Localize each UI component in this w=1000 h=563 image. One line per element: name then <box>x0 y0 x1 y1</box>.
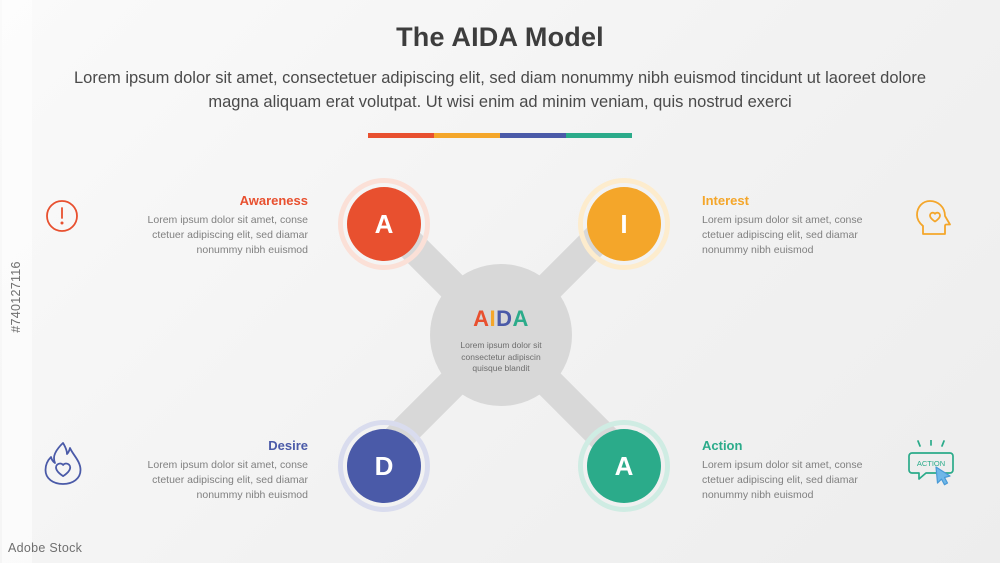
rule-segment-4 <box>566 133 632 138</box>
node-action-letter: A <box>587 429 661 503</box>
block-action: Action Lorem ipsum dolor sit amet, conse… <box>702 438 888 503</box>
block-desire: Desire Lorem ipsum dolor sit amet, conse… <box>122 438 308 503</box>
color-rule <box>368 133 632 138</box>
node-interest-letter: I <box>587 187 661 261</box>
node-desire[interactable]: D <box>338 420 430 512</box>
node-awareness-letter: A <box>347 187 421 261</box>
page-subtitle: Lorem ipsum dolor sit amet, consectetuer… <box>60 66 940 114</box>
block-interest: Interest Lorem ipsum dolor sit amet, con… <box>702 193 888 258</box>
block-desire-title: Desire <box>122 438 308 453</box>
watermark-vertical: #740127116 <box>9 207 23 387</box>
rule-segment-2 <box>434 133 500 138</box>
flame-heart-icon <box>42 440 84 491</box>
block-awareness-text: Lorem ipsum dolor sit amet, conse ctetue… <box>122 213 308 258</box>
center-acronym: AIDA <box>430 306 572 332</box>
center-description: Lorem ipsum dolor sit consectetur adipis… <box>446 340 556 375</box>
block-action-text: Lorem ipsum dolor sit amet, conse ctetue… <box>702 458 888 503</box>
block-awareness: Awareness Lorem ipsum dolor sit amet, co… <box>122 193 308 258</box>
block-awareness-title: Awareness <box>122 193 308 208</box>
alert-circle-icon <box>42 196 82 241</box>
action-click-icon: ACTION <box>906 440 958 491</box>
rule-segment-1 <box>368 133 434 138</box>
block-interest-title: Interest <box>702 193 888 208</box>
page-title: The AIDA Model <box>0 22 1000 53</box>
center-letter-a2: A <box>513 306 529 331</box>
center-letter-a1: A <box>473 306 489 331</box>
block-action-title: Action <box>702 438 888 453</box>
center-letter-d: D <box>496 306 512 331</box>
node-desire-letter: D <box>347 429 421 503</box>
node-action[interactable]: A <box>578 420 670 512</box>
node-interest[interactable]: I <box>578 178 670 270</box>
center-hub: AIDA Lorem ipsum dolor sit consectetur a… <box>430 264 572 406</box>
rule-segment-3 <box>500 133 566 138</box>
infographic-canvas: The AIDA Model Lorem ipsum dolor sit ame… <box>0 0 1000 563</box>
block-interest-text: Lorem ipsum dolor sit amet, conse ctetue… <box>702 213 888 258</box>
head-heart-icon <box>912 196 956 243</box>
node-awareness[interactable]: A <box>338 178 430 270</box>
action-badge-label: ACTION <box>917 459 945 468</box>
block-desire-text: Lorem ipsum dolor sit amet, conse ctetue… <box>122 458 308 503</box>
watermark-bottom: Adobe Stock <box>8 541 82 555</box>
